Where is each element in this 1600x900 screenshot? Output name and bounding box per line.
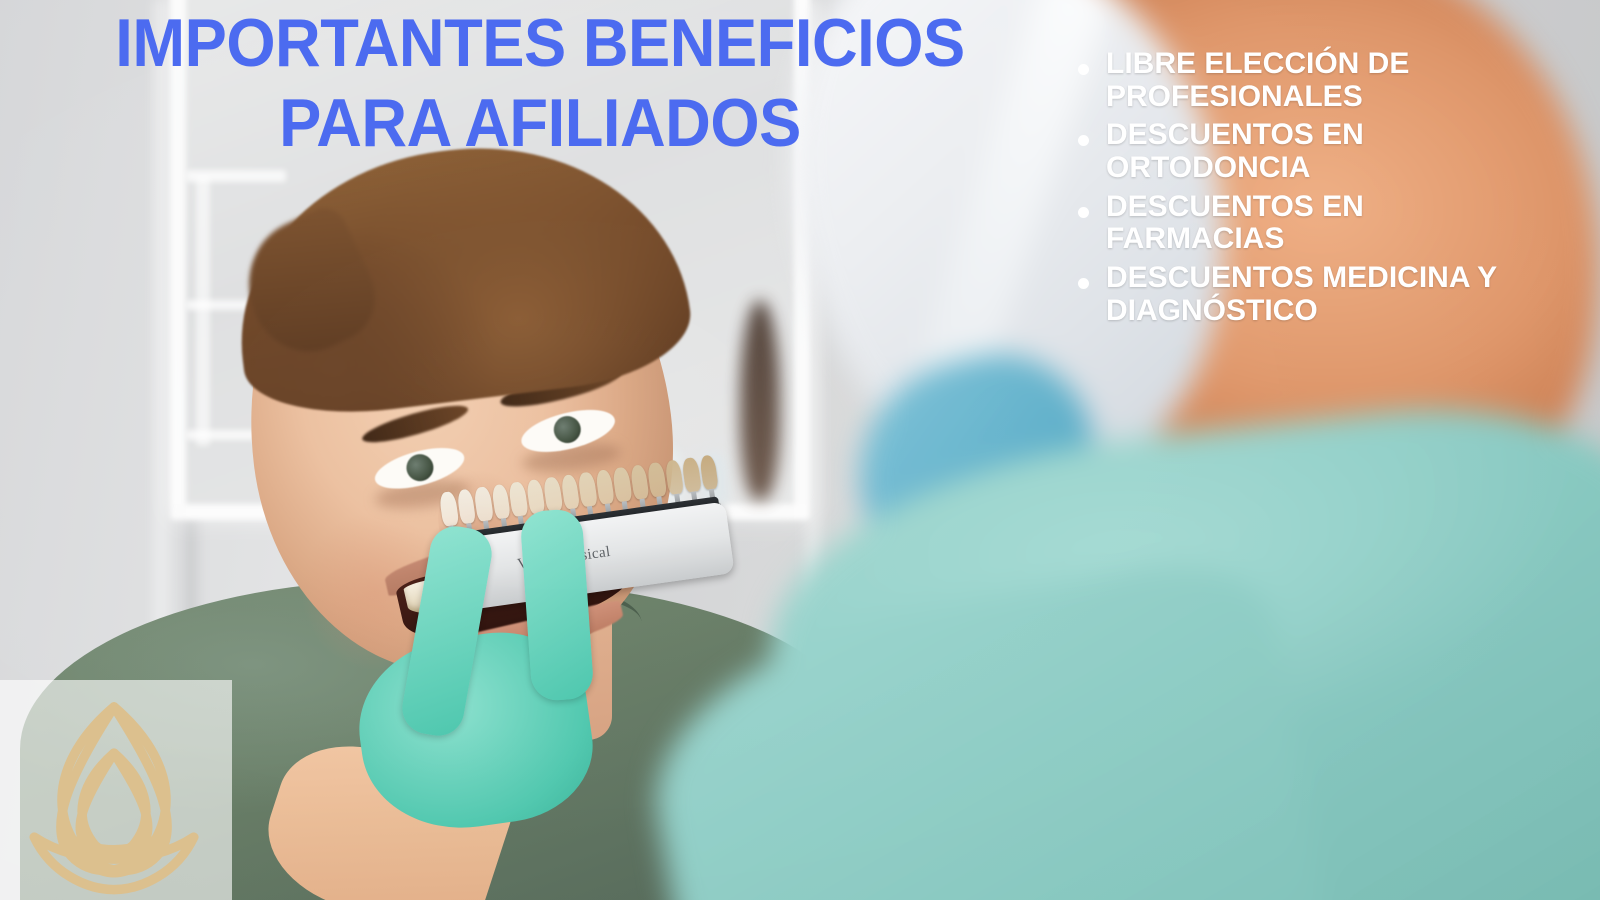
shade-tab-crown — [681, 457, 701, 493]
bullet-dot-icon — [1078, 64, 1089, 75]
benefit-item: DESCUENTOS EN ORTODONCIA — [1062, 119, 1532, 184]
shade-tab-crown — [491, 484, 511, 520]
shade-tab-crown — [560, 474, 580, 510]
shade-tab-crown — [664, 459, 684, 495]
benefits-list: LIBRE ELECCIÓN DE PROFESIONALESDESCUENTO… — [1062, 48, 1532, 334]
benefit-item: DESCUENTOS MEDICINA Y DIAGNÓSTICO — [1062, 262, 1532, 327]
shade-tab-crown — [629, 464, 649, 500]
benefit-label: DESCUENTOS EN FARMACIAS — [1106, 190, 1364, 256]
benefit-label: DESCUENTOS MEDICINA Y DIAGNÓSTICO — [1106, 261, 1497, 327]
benefit-item: LIBRE ELECCIÓN DE PROFESIONALES — [1062, 48, 1532, 113]
shade-tab-crown — [525, 479, 545, 515]
dentist-gloved-hand — [330, 540, 750, 900]
shade-tab-crown — [543, 476, 563, 512]
shade-tab-crown — [612, 467, 632, 503]
shade-tab-crown — [647, 462, 667, 498]
benefit-label: DESCUENTOS EN ORTODONCIA — [1106, 118, 1364, 184]
patient-iris-left — [403, 451, 436, 484]
shade-tab-crown — [473, 486, 493, 522]
brand-logo — [8, 688, 220, 898]
shade-tab-crown — [595, 469, 615, 505]
bullet-dot-icon — [1078, 135, 1089, 146]
glove-finger-middle — [519, 508, 594, 702]
shade-tab-crown — [577, 471, 597, 507]
bullet-dot-icon — [1078, 207, 1089, 218]
slide-canvas: IMPORTANTES BENEFICIOS PARA AFILIADOS LI… — [0, 0, 1600, 900]
benefit-label: LIBRE ELECCIÓN DE PROFESIONALES — [1106, 47, 1409, 113]
shade-tab-crown — [699, 454, 719, 490]
shade-tab-crown — [456, 489, 476, 525]
shade-tab-crown — [508, 481, 528, 517]
bullet-dot-icon — [1078, 278, 1089, 289]
shade-tab-crown — [439, 491, 459, 527]
patient-iris-right — [551, 413, 584, 446]
benefit-item: DESCUENTOS EN FARMACIAS — [1062, 191, 1532, 256]
